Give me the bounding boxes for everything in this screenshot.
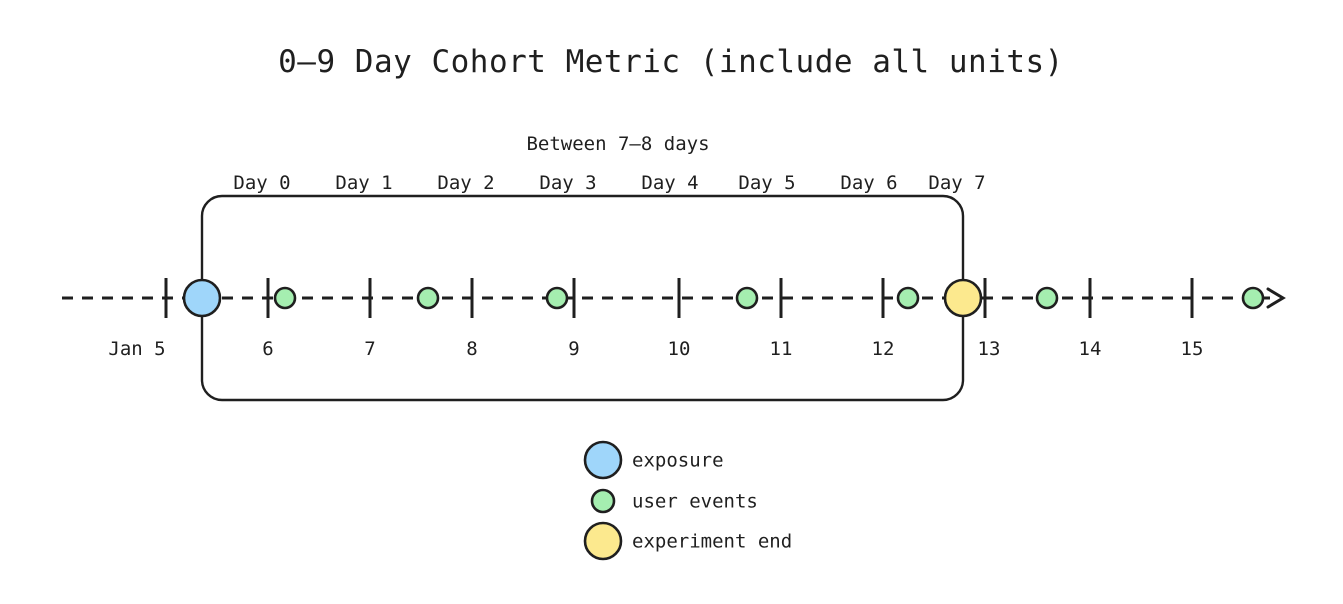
bracket-label: Between 7–8 days bbox=[526, 133, 709, 155]
date-label-9: 9 bbox=[568, 338, 579, 360]
day-label-6: Day 6 bbox=[840, 172, 897, 194]
legend-label-user-events: user events bbox=[632, 491, 758, 513]
date-label-6: 6 bbox=[262, 338, 273, 360]
marker-user-event-5[interactable] bbox=[898, 288, 918, 308]
date-label-10: 10 bbox=[668, 338, 691, 360]
legend-swatch-experiment-end bbox=[585, 523, 621, 559]
marker-user-event-1[interactable] bbox=[275, 288, 295, 308]
timeline-diagram: 0–9 Day Cohort Metric (include all units… bbox=[0, 0, 1343, 604]
marker-user-event-4[interactable] bbox=[737, 288, 757, 308]
legend: exposure user events experiment end bbox=[585, 442, 792, 559]
day-label-2: Day 2 bbox=[437, 172, 494, 194]
marker-user-event-3[interactable] bbox=[547, 288, 567, 308]
day-label-7: Day 7 bbox=[928, 172, 985, 194]
marker-user-event-6[interactable] bbox=[1037, 288, 1057, 308]
date-label-15: 15 bbox=[1181, 338, 1204, 360]
date-label-7: 7 bbox=[364, 338, 375, 360]
axis-arrow-icon bbox=[1268, 289, 1283, 307]
marker-experiment-end[interactable] bbox=[945, 280, 981, 316]
date-label-13: 13 bbox=[978, 338, 1001, 360]
date-label-jan5: Jan 5 bbox=[108, 338, 165, 360]
day-label-0: Day 0 bbox=[233, 172, 290, 194]
date-label-11: 11 bbox=[770, 338, 793, 360]
day-label-5: Day 5 bbox=[738, 172, 795, 194]
date-label-8: 8 bbox=[466, 338, 477, 360]
legend-swatch-user-events bbox=[592, 490, 614, 512]
date-label-12: 12 bbox=[872, 338, 895, 360]
date-label-14: 14 bbox=[1079, 338, 1102, 360]
marker-user-event-2[interactable] bbox=[418, 288, 438, 308]
legend-label-exposure: exposure bbox=[632, 450, 724, 472]
legend-item-experiment-end[interactable]: experiment end bbox=[585, 523, 792, 559]
day-label-1: Day 1 bbox=[335, 172, 392, 194]
day-label-3: Day 3 bbox=[539, 172, 596, 194]
timeline-canvas: 0–9 Day Cohort Metric (include all units… bbox=[0, 0, 1343, 604]
date-label-group: Jan 5 6 7 8 9 10 11 12 13 14 15 bbox=[108, 338, 1203, 360]
legend-item-user-events[interactable]: user events bbox=[592, 490, 758, 513]
day-label-group: Day 0 Day 1 Day 2 Day 3 Day 4 Day 5 Day … bbox=[233, 172, 985, 194]
legend-item-exposure[interactable]: exposure bbox=[585, 442, 724, 478]
marker-exposure[interactable] bbox=[184, 280, 220, 316]
legend-label-experiment-end: experiment end bbox=[632, 531, 792, 553]
marker-user-event-7[interactable] bbox=[1243, 288, 1263, 308]
page-title: 0–9 Day Cohort Metric (include all units… bbox=[278, 44, 1064, 80]
legend-swatch-exposure bbox=[585, 442, 621, 478]
day-label-4: Day 4 bbox=[641, 172, 698, 194]
